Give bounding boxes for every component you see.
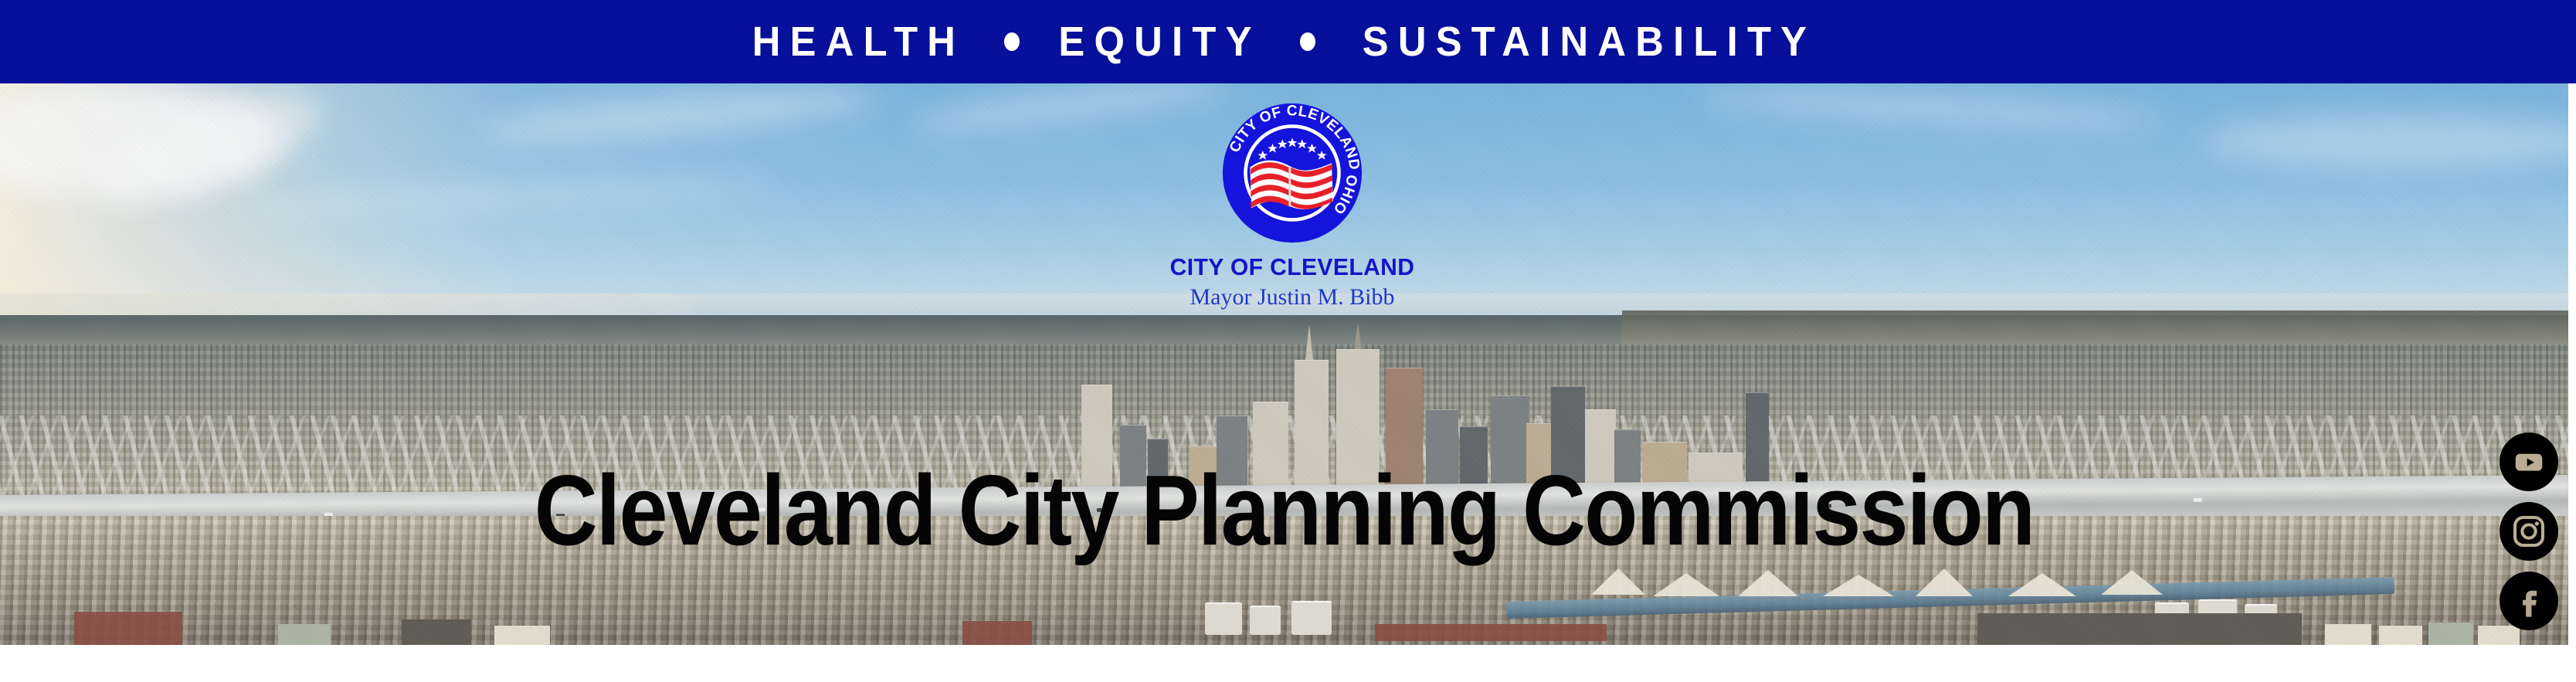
tagline-word-sustainability: SUSTAINABILITY — [1363, 21, 1817, 63]
tagline-separator-dot-2 — [1300, 32, 1315, 51]
instagram-icon — [2510, 513, 2547, 550]
page-title: Cleveland City Planning Commission — [90, 460, 2478, 560]
key-tower-spire — [1354, 323, 1362, 349]
apartment-block — [1977, 613, 2302, 645]
facebook-link[interactable] — [2500, 572, 2558, 630]
right-margin — [2568, 83, 2576, 682]
facebook-icon — [2511, 583, 2547, 619]
tagline-row: HEALTH EQUITY SUSTAINABILITY — [745, 21, 1831, 63]
house — [402, 619, 471, 645]
city-name-label: CITY OF CLEVELAND — [1169, 255, 1416, 279]
house — [2379, 626, 2422, 645]
tagline-banner: HEALTH EQUITY SUSTAINABILITY — [0, 0, 2576, 83]
youtube-link[interactable] — [2500, 433, 2558, 491]
tagline-word-health: HEALTH — [752, 21, 965, 63]
city-of-cleveland-seal-icon: CITY OF CLEVELAND OHIO — [1222, 103, 1363, 243]
storage-tank — [1205, 602, 1242, 635]
house — [2428, 623, 2473, 645]
storage-tank — [1250, 606, 1281, 635]
instagram-link[interactable] — [2500, 502, 2558, 561]
warehouse-roof — [1375, 624, 1607, 641]
bottom-margin — [0, 645, 2576, 682]
house — [2325, 624, 2371, 645]
brick-building — [962, 621, 1032, 645]
social-links-rail — [2498, 433, 2560, 630]
terminal-tower-spire — [1305, 324, 1313, 360]
house — [494, 626, 550, 645]
storage-tank — [1291, 601, 1332, 635]
tagline-word-equity: EQUITY — [1058, 21, 1261, 63]
city-branding-block: CITY OF CLEVELAND OHIO CITY OF CLEVELAND… — [1165, 103, 1420, 323]
page-root: HEALTH EQUITY SUSTAINABILITY — [0, 0, 2576, 682]
youtube-icon — [2511, 444, 2547, 480]
house — [278, 624, 331, 645]
mayor-name-label: Mayor Justin M. Bibb — [1165, 286, 1420, 309]
brick-building — [74, 612, 182, 645]
tagline-separator-dot-1 — [1004, 32, 1020, 51]
